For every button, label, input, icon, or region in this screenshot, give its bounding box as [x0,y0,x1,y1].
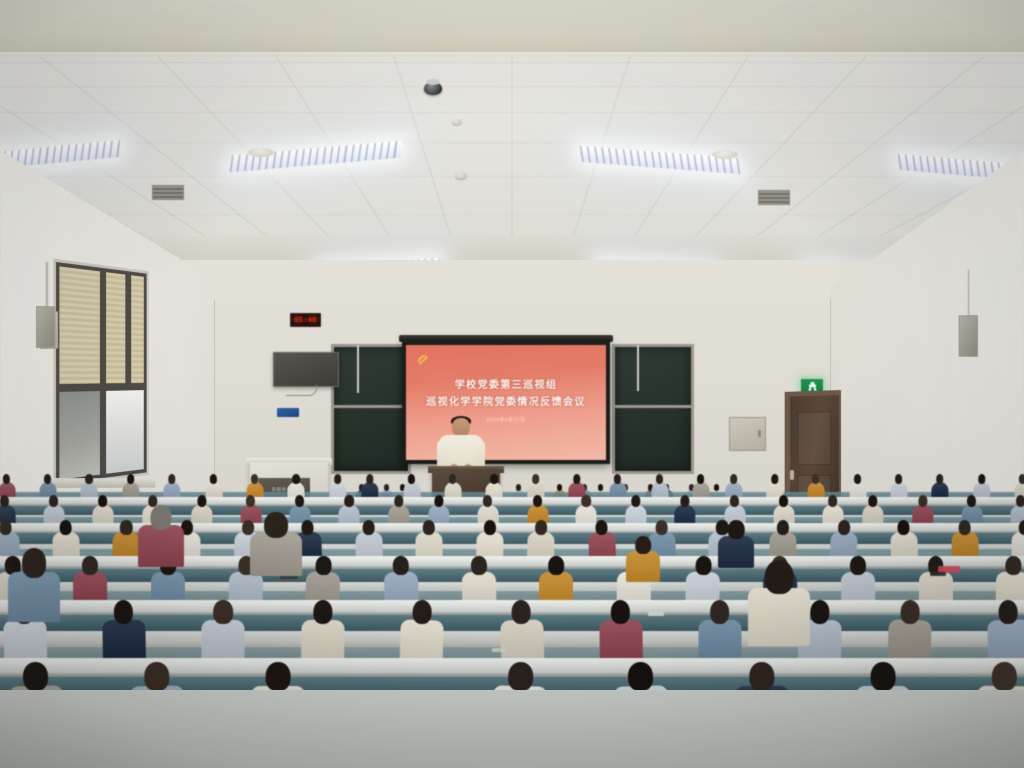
wall-cable [47,262,48,312]
person-torso [138,525,184,567]
audience-person [841,556,876,604]
person-head [871,662,896,691]
person-head [977,474,985,484]
blue-wall-sign [277,408,299,417]
electrical-panel [729,417,766,451]
smoke-detector-icon [452,119,462,125]
person-head [144,662,169,691]
person-head [853,474,861,484]
paper-on-desk [492,648,506,652]
person-head [850,556,866,575]
person-torso [748,588,810,646]
person-head [610,600,630,624]
person-head [966,495,976,507]
person-torso [1011,532,1024,558]
person-head [168,474,176,484]
ceiling-speaker-icon [248,148,274,157]
person-head [266,662,291,691]
person-head [812,474,820,484]
person-head [490,474,498,484]
window-blind [59,266,100,384]
person-torso [626,551,660,582]
person-torso [415,532,442,558]
person-torso [250,533,302,576]
floor [0,690,1024,768]
person-head [680,495,690,507]
window-glass [106,390,144,474]
slide-title: 学校党委第三巡视组 巡视化学学院党委情况反馈会议 [406,377,606,411]
audience-person [609,474,627,498]
audience-person [950,520,978,558]
person-head [0,495,9,507]
window [56,262,147,484]
audience-person [539,556,573,604]
person-head [631,495,641,507]
person-head [150,505,171,530]
audience-person [202,600,245,660]
slide-date: 2024年6月27日 [406,417,606,423]
audience-person [986,599,1024,660]
audience-person [931,474,948,498]
person-head [531,474,539,484]
person-head [765,560,794,594]
person-head [412,600,432,625]
person-head [85,474,93,484]
audience-person [383,556,418,605]
audience-person [890,520,918,559]
person-head [532,495,542,507]
audience-person [300,600,344,661]
person-torso [113,532,140,558]
person-head [483,495,493,507]
person-torso [163,482,180,499]
person-head [809,600,829,624]
person-torso [609,482,626,499]
person-head [434,495,444,507]
person-head [407,474,415,484]
audience-person [138,505,184,567]
led-clock-text: 05:40 [294,316,317,324]
person-torso [987,619,1024,660]
projection-screen: 学校党委第三巡视组 巡视化学学院党委情况反馈会议 2024年6月27日 [402,341,610,464]
audience-person [674,495,696,526]
blackboard-right [612,344,694,474]
lecture-hall-photo: 学校党委第三巡视组 巡视化学学院党委情况反馈会议 2024年6月27日 05:4… [0,0,1024,768]
person-torso [931,482,948,498]
person-torso [122,482,139,498]
blackboard-left [331,344,411,474]
person-torso [651,482,668,498]
paper-on-desk [648,612,664,616]
person-head [697,474,705,484]
person-head [98,495,108,507]
person-head [448,474,456,484]
person-head [48,495,58,507]
ceiling-tile-grid [0,56,1024,256]
audience-person [355,520,383,558]
audience-person [651,474,668,498]
person-head [771,474,779,484]
window-blind [106,272,125,383]
person-head [992,662,1017,691]
person-head [557,484,563,491]
audience-person [829,520,857,559]
person-head [635,536,651,554]
wall-speaker [959,315,978,357]
person-head [778,495,788,507]
person-torso [527,532,555,558]
person-head [120,520,132,535]
phone-on-desk [930,572,946,576]
person-head [366,474,374,484]
board-pull-rod [637,345,639,391]
person-torso [3,619,47,660]
person-head [333,474,341,484]
person-head [628,662,654,691]
audience-person [625,495,646,525]
person-torso [588,532,616,558]
person-head [22,548,46,578]
communist-party-emblem-icon [415,353,430,367]
air-vent-icon [152,185,184,200]
person-head [710,600,730,624]
person-torso [361,482,378,499]
slide-title-line2: 巡视化学学院党委情况反馈会议 [406,394,606,411]
person-head [516,484,522,491]
person-torso [399,619,443,660]
ceiling-speaker-icon [712,150,738,159]
audience-person [122,474,139,498]
person-head [1018,520,1024,535]
person-head [245,495,255,507]
person-head [295,495,305,507]
ceiling-soffit [0,0,1024,60]
person-head [1018,474,1024,484]
person-head [714,484,720,491]
person-head [895,474,903,484]
person-head [213,600,233,624]
audience-person [461,556,496,604]
audience-person [1011,520,1024,558]
person-head [264,512,288,538]
led-clock-display: 05:40 [290,313,321,327]
person-torso [355,532,382,558]
person-head [936,474,944,484]
person-torso [475,532,502,558]
person-head [1016,495,1024,507]
audience-person [996,556,1024,604]
audience-person [769,520,797,558]
person-head [695,556,711,576]
audience-person [718,520,754,568]
audience-person [92,495,113,525]
person-torso [300,619,344,660]
audience-person [748,560,810,646]
person-torso [698,620,741,660]
person-head [573,474,581,484]
person-head [127,474,135,484]
person-head [594,520,607,536]
person-head [549,556,565,575]
person-torso [102,619,146,660]
person-head [44,474,52,484]
person-head [958,520,971,535]
audience-person [919,556,953,604]
person-head [316,556,332,576]
monitor-cable [286,385,317,396]
person-head [917,495,927,507]
audience-person [388,495,409,525]
door-handle [790,470,794,480]
wall-speaker [36,306,55,348]
person-head [508,662,534,691]
window-sill [50,478,155,488]
person-head [362,520,375,535]
person-torso [202,620,245,660]
person-head [828,495,838,507]
person-head [2,474,10,484]
running-man-icon [809,382,816,391]
person-head [614,474,622,484]
person-head [344,495,354,507]
person-head [23,662,49,691]
person-torso [92,505,113,525]
person-torso [499,619,543,660]
audience-person [306,556,341,605]
board-pull-rod [357,345,359,393]
audience-person [250,512,302,576]
audience-person [113,520,140,558]
person-head [837,520,850,536]
audience-person [626,536,660,582]
audience-person [862,495,883,525]
audience-person [163,474,181,498]
person-head [483,520,496,535]
person-head [655,474,663,484]
smoke-detector-icon [455,172,467,179]
audience-person [475,520,503,558]
person-head [728,520,745,539]
person-head [729,474,737,484]
speaker-mount-rod [968,270,969,316]
slide-title-line1: 学校党委第三巡视组 [406,377,606,394]
person-head [209,474,217,484]
audience-person [698,600,741,660]
dome-camera-icon [424,82,442,95]
audience-person [587,520,615,559]
audience-person [8,548,60,622]
person-torso [599,619,643,660]
person-head [292,474,300,484]
person-head [729,495,739,507]
audience-person [399,599,444,660]
speaker-mount-rod [46,262,47,308]
person-head [749,662,774,691]
audience-person [890,474,907,498]
person-head [393,556,409,576]
person-head [598,484,604,491]
person-torso [8,572,60,622]
window-blind [131,275,144,383]
person-torso [950,532,977,558]
audience-person [527,520,555,559]
person-torso [890,482,907,498]
person-torso [887,619,931,660]
person-head [582,495,592,507]
person-head [251,474,259,484]
person-torso [769,532,796,558]
person-head [113,600,133,624]
presentation-slide: 学校党委第三巡视组 巡视化学学院党委情况反馈会议 2024年6月27日 [406,345,606,460]
air-vent-icon [758,190,790,205]
audience-person [361,474,379,498]
person-head [82,556,98,575]
person-head [510,600,530,625]
person-head [313,600,333,624]
wall-mounted-monitor [273,352,339,387]
person-head [900,600,920,625]
person-head [423,520,435,535]
person-head [471,556,487,575]
person-head [998,600,1018,625]
audience-person [685,556,720,605]
person-head [384,484,390,491]
audience-person [887,599,932,660]
person-torso [829,532,857,558]
audience-person [102,600,146,661]
window-glass [59,391,100,480]
person-torso [890,532,918,558]
person-head [868,495,878,507]
person-head [1006,556,1022,575]
audience-person [415,520,442,558]
person-head [197,495,207,507]
audience-person [598,600,642,661]
person-torso [718,536,754,568]
person-head [394,495,404,507]
audience-person [73,556,108,604]
